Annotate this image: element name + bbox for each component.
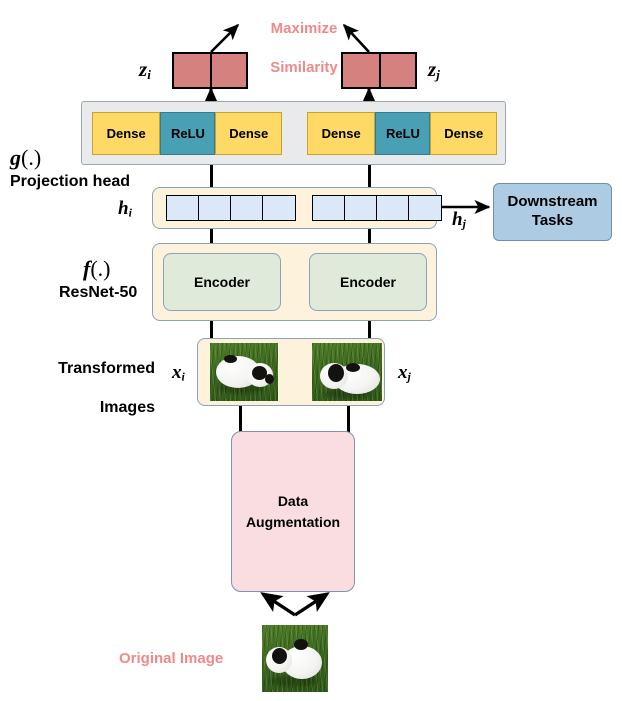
xi-label: xi xyxy=(172,363,185,383)
projection-head-label: Projection head xyxy=(10,173,130,191)
line-image-to-augmentation-right xyxy=(347,405,350,433)
hi-cell-1 xyxy=(167,196,199,220)
encoder-left[interactable]: Encoder xyxy=(163,253,281,311)
arrow-zi-to-similarity xyxy=(211,25,238,52)
original-image-label: Original Image xyxy=(119,650,223,667)
downstream-line1: Downstream xyxy=(507,193,597,212)
hi-cell-4 xyxy=(263,196,295,220)
hi-cell-2 xyxy=(199,196,231,220)
transformed-image-xj[interactable] xyxy=(312,343,382,401)
data-augmentation-box[interactable]: Data Augmentation xyxy=(231,431,355,592)
zj-vector xyxy=(341,52,417,89)
encoder-symbol-args: (.) xyxy=(90,256,110,281)
encoder-symbol: f(.) xyxy=(83,258,110,280)
projection-head-container: Dense ReLU Dense Dense ReLU Dense xyxy=(81,101,506,165)
relu-layer-left[interactable]: ReLU xyxy=(160,112,215,155)
zj-label: zj xyxy=(428,59,440,81)
projection-head-symbol: g(.) xyxy=(10,147,41,169)
arrow-original-to-augmentation-right xyxy=(295,594,327,615)
dog-ear-1 xyxy=(265,374,274,384)
encoder-right[interactable]: Encoder xyxy=(309,253,427,311)
dog-back-patch-2 xyxy=(346,363,360,372)
relu-layer-right[interactable]: ReLU xyxy=(375,112,430,155)
simclr-diagram: Maximize Similarity zi zj Dense ReLU Den… xyxy=(0,0,622,701)
zi-cell-1 xyxy=(174,54,210,87)
transformed-images-label: Transformed Images xyxy=(50,342,155,436)
zj-cell-2 xyxy=(379,54,415,87)
dense-layer-left-2[interactable]: Dense xyxy=(215,112,282,155)
zj-cell-1 xyxy=(343,54,379,87)
dog-back-patch-original xyxy=(294,639,308,650)
hj-cell-1 xyxy=(313,196,345,220)
downstream-tasks-box[interactable]: Downstream Tasks xyxy=(493,183,612,241)
arrow-original-to-augmentation-left xyxy=(263,594,295,615)
hj-cell-4 xyxy=(409,196,441,220)
downstream-line2: Tasks xyxy=(507,212,597,231)
dense-layer-right-2[interactable]: Dense xyxy=(430,112,497,155)
encoder-label: ResNet-50 xyxy=(59,284,137,302)
hj-cell-3 xyxy=(377,196,409,220)
dog-patch-2 xyxy=(224,355,237,363)
transformed-images-line2: Images xyxy=(50,399,155,417)
xj-label: xj xyxy=(398,363,411,383)
data-augmentation-line2: Augmentation xyxy=(246,512,340,533)
transformed-image-xi[interactable] xyxy=(210,343,278,401)
dog-face-patch-2 xyxy=(328,364,344,382)
projection-head-branch-right: Dense ReLU Dense xyxy=(307,112,497,155)
downstream-tasks-text: Downstream Tasks xyxy=(507,193,597,231)
dog-face-patch-original xyxy=(272,648,287,664)
line-image-to-augmentation-left xyxy=(239,405,242,433)
projection-head-symbol-args: (.) xyxy=(21,145,41,170)
original-image[interactable] xyxy=(262,625,328,692)
hj-label: hj xyxy=(452,210,466,230)
zi-vector xyxy=(172,52,248,89)
hi-vector xyxy=(166,195,296,221)
maximize-similarity-line1: Maximize xyxy=(244,20,364,37)
zi-cell-2 xyxy=(210,54,246,87)
hi-label: hi xyxy=(118,199,132,219)
zi-label: zi xyxy=(139,59,151,81)
data-augmentation-line1: Data xyxy=(246,491,340,512)
hj-cell-2 xyxy=(345,196,377,220)
dense-layer-right-1[interactable]: Dense xyxy=(307,112,375,155)
projection-head-branch-left: Dense ReLU Dense xyxy=(92,112,282,155)
hi-cell-3 xyxy=(231,196,263,220)
dense-layer-left-1[interactable]: Dense xyxy=(92,112,160,155)
hj-vector xyxy=(312,195,442,221)
transformed-images-line1: Transformed xyxy=(50,360,155,378)
data-augmentation-text: Data Augmentation xyxy=(246,491,340,533)
